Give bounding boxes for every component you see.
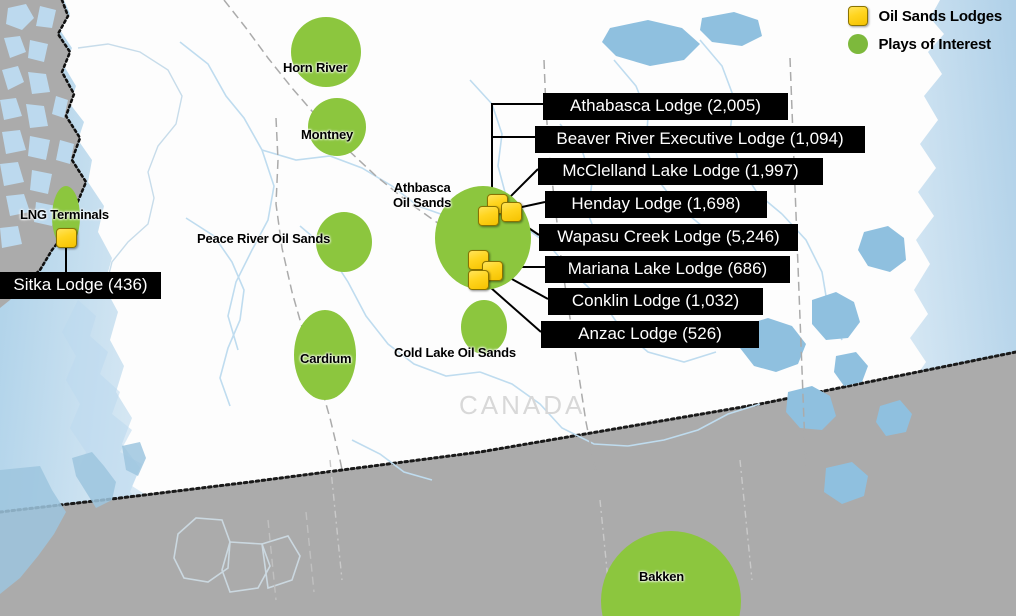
callout-sitka-lodge[interactable]: Sitka Lodge (436) — [0, 272, 161, 299]
legend-item-plays-of-interest[interactable]: Plays of Interest — [848, 34, 1003, 54]
play-label-montney: Montney — [301, 127, 353, 142]
callout-wapasu-creek-lodge[interactable]: Wapasu Creek Lodge (5,246) — [539, 224, 798, 251]
callout-mcclelland-lake-lodge[interactable]: McClelland Lake Lodge (1,997) — [538, 158, 823, 185]
marker-athabasca-cluster-2[interactable] — [501, 202, 522, 222]
circle-marker-icon — [848, 34, 868, 54]
play-ellipse-horn-river[interactable] — [291, 17, 361, 87]
map-label-lng-terminals: LNG Terminals — [20, 207, 109, 222]
callout-beaver-river-executive-lodge[interactable]: Beaver River Executive Lodge (1,094) — [535, 126, 865, 153]
map-legend: Oil Sands Lodges Plays of Interest — [848, 6, 1003, 54]
play-label-cardium: Cardium — [300, 351, 351, 366]
marker-sitka[interactable] — [56, 228, 77, 248]
play-label-horn-river: Horn River — [283, 60, 347, 75]
legend-label-oil-sands-lodges: Oil Sands Lodges — [879, 8, 1003, 25]
callout-henday-lodge[interactable]: Henday Lodge (1,698) — [545, 191, 767, 218]
play-label-peace-river-oil-sands: Peace River Oil Sands — [197, 231, 330, 246]
marker-southern-cluster-3[interactable] — [468, 270, 489, 290]
callout-anzac-lodge[interactable]: Anzac Lodge (526) — [541, 321, 759, 348]
basemap-layer — [0, 0, 1016, 616]
legend-item-oil-sands-lodges[interactable]: Oil Sands Lodges — [848, 6, 1003, 26]
marker-athabasca-cluster-3[interactable] — [478, 206, 499, 226]
play-label-bakken: Bakken — [639, 569, 684, 584]
callout-athabasca-lodge[interactable]: Athabasca Lodge (2,005) — [543, 93, 788, 120]
play-label-athbasca-oil-sands: Athbasca Oil Sands — [393, 180, 451, 210]
legend-label-plays-of-interest: Plays of Interest — [879, 36, 991, 53]
square-marker-icon — [848, 6, 868, 26]
canada-watermark: CANADA — [459, 390, 585, 421]
callout-conklin-lodge[interactable]: Conklin Lodge (1,032) — [548, 288, 763, 315]
map-canvas: Horn RiverMontneyPeace River Oil SandsCa… — [0, 0, 1016, 616]
play-label-cold-lake-oil-sands: Cold Lake Oil Sands — [394, 345, 516, 360]
callout-mariana-lake-lodge[interactable]: Mariana Lake Lodge (686) — [545, 256, 790, 283]
